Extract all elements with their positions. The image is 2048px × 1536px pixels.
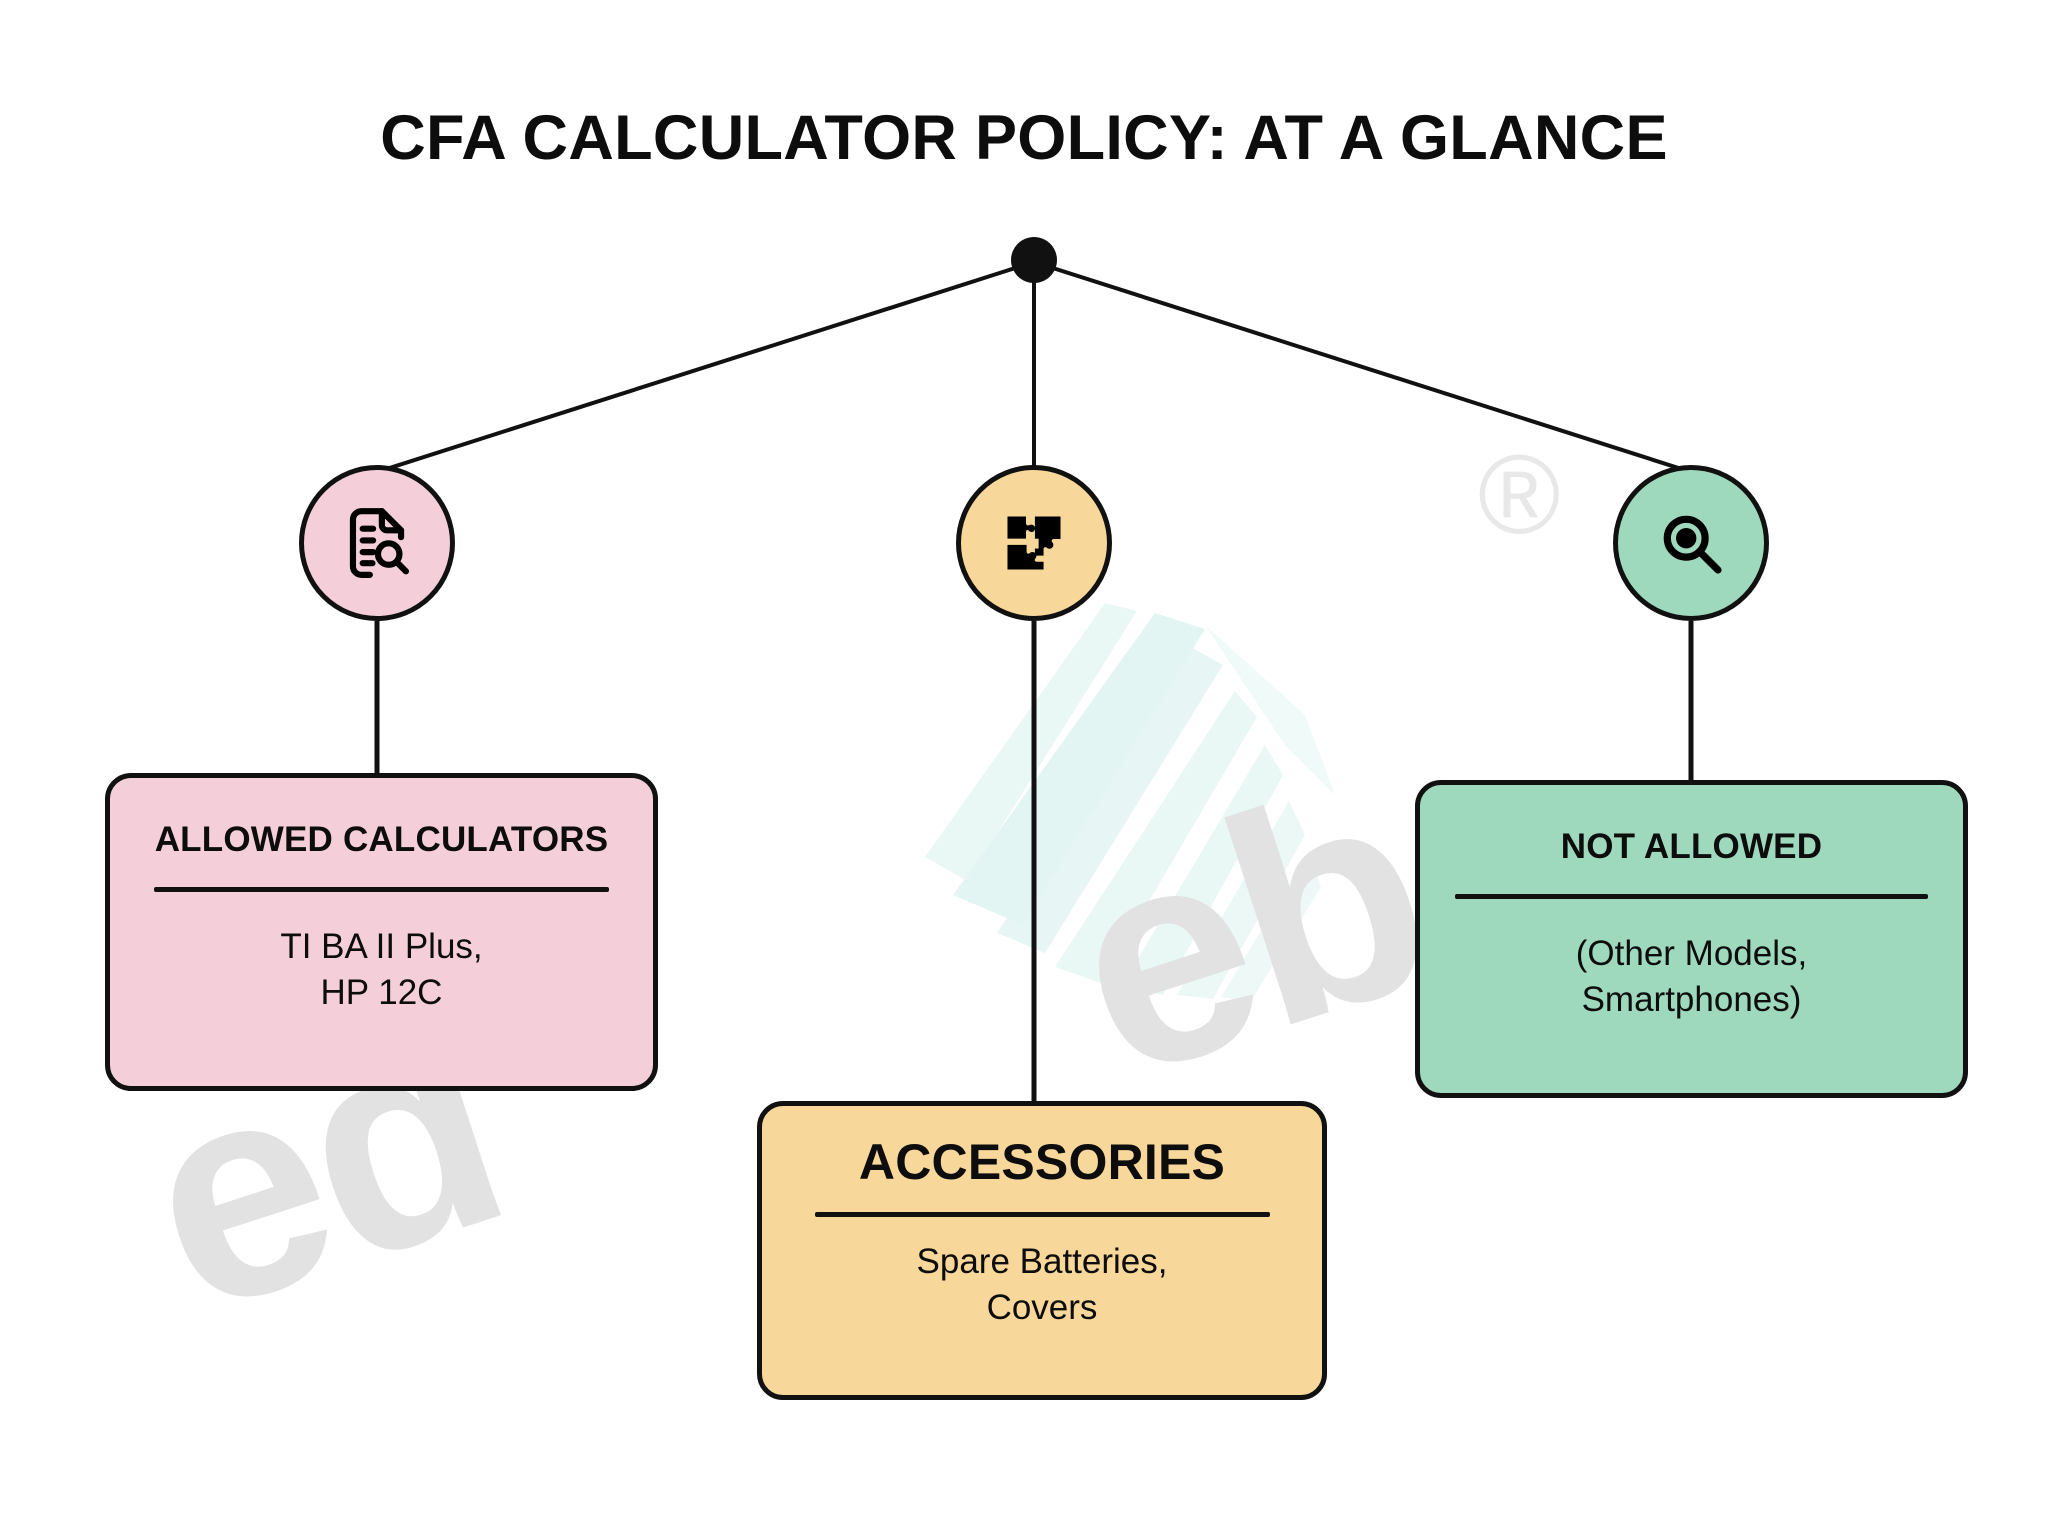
card-body-line: HP 12C xyxy=(280,970,482,1016)
document-search-icon xyxy=(338,504,416,582)
card-not-allowed[interactable]: NOT ALLOWED (Other Models, Smartphones) xyxy=(1415,780,1968,1098)
card-accessories[interactable]: ACCESSORIES Spare Batteries, Covers xyxy=(757,1101,1327,1400)
card-title-accessories: ACCESSORIES xyxy=(859,1134,1225,1190)
card-divider-notallowed xyxy=(1455,894,1928,899)
card-body-allowed: TI BA II Plus, HP 12C xyxy=(280,924,482,1016)
card-title-notallowed: NOT ALLOWED xyxy=(1561,827,1822,866)
card-body-accessories: Spare Batteries, Covers xyxy=(917,1239,1168,1331)
magnifier-icon xyxy=(1655,507,1727,579)
card-body-notallowed: (Other Models, Smartphones) xyxy=(1576,931,1807,1023)
branch-icon-circle-notallowed[interactable] xyxy=(1613,465,1769,621)
page-title: CFA CALCULATOR POLICY: AT A GLANCE xyxy=(0,102,2048,174)
branch-icon-circle-accessories[interactable] xyxy=(956,465,1112,621)
puzzle-pieces-icon xyxy=(997,506,1071,580)
card-body-line: (Other Models, xyxy=(1576,931,1807,977)
card-allowed-calculators[interactable]: ALLOWED CALCULATORS TI BA II Plus, HP 12… xyxy=(105,773,658,1091)
root-hub-dot xyxy=(1011,237,1057,283)
card-divider-allowed xyxy=(154,887,609,892)
connector-hub-to-allowed xyxy=(377,262,1034,472)
card-body-line: Covers xyxy=(917,1285,1168,1331)
card-body-line: TI BA II Plus, xyxy=(280,924,482,970)
card-title-allowed: ALLOWED CALCULATORS xyxy=(155,820,609,859)
card-body-line: Spare Batteries, xyxy=(917,1239,1168,1285)
card-body-line: Smartphones) xyxy=(1576,977,1807,1023)
branch-icon-circle-allowed[interactable] xyxy=(299,465,455,621)
card-divider-accessories xyxy=(815,1212,1270,1217)
connector-hub-to-notallowed xyxy=(1034,262,1691,472)
